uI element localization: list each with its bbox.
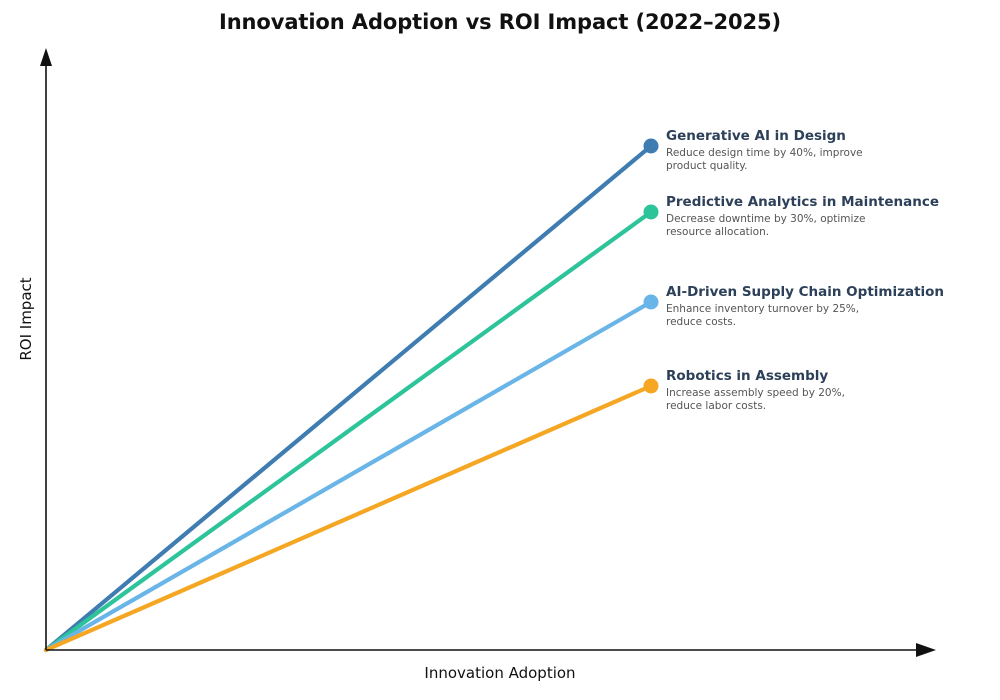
- series-line[interactable]: [46, 212, 651, 650]
- series-line[interactable]: [46, 302, 651, 650]
- series-annotation[interactable]: AI-Driven Supply Chain OptimizationEnhan…: [666, 285, 986, 329]
- series-annotation-description: Reduce design time by 40%, improve produ…: [666, 147, 871, 174]
- series-annotation-title: AI-Driven Supply Chain Optimization: [666, 285, 986, 301]
- series-annotation[interactable]: Generative AI in DesignReduce design tim…: [666, 129, 986, 173]
- series-layer: [46, 146, 651, 650]
- series-endpoint-marker[interactable]: [644, 139, 659, 154]
- y-axis-label: ROI Impact: [17, 249, 35, 389]
- chart-plot-area: [0, 0, 1000, 700]
- series-annotation-description: Enhance inventory turnover by 25%, reduc…: [666, 303, 871, 330]
- series-endpoint-marker[interactable]: [644, 205, 659, 220]
- series-annotation-title: Generative AI in Design: [666, 129, 986, 145]
- arrow-right-icon: [916, 643, 936, 657]
- series-endpoint-marker[interactable]: [644, 295, 659, 310]
- arrow-up-icon: [40, 48, 52, 66]
- series-line[interactable]: [46, 386, 651, 650]
- series-annotation-title: Robotics in Assembly: [666, 369, 986, 385]
- series-annotation[interactable]: Robotics in AssemblyIncrease assembly sp…: [666, 369, 986, 413]
- series-annotation[interactable]: Predictive Analytics in MaintenanceDecre…: [666, 195, 986, 239]
- series-line[interactable]: [46, 146, 651, 650]
- chart-container: Innovation Adoption vs ROI Impact (2022–…: [0, 0, 1000, 700]
- series-annotation-description: Decrease downtime by 30%, optimize resou…: [666, 213, 871, 240]
- marker-layer: [644, 139, 659, 394]
- series-annotation-title: Predictive Analytics in Maintenance: [666, 195, 986, 211]
- series-annotation-description: Increase assembly speed by 20%, reduce l…: [666, 387, 871, 414]
- x-axis-label: Innovation Adoption: [0, 664, 1000, 682]
- series-endpoint-marker[interactable]: [644, 379, 659, 394]
